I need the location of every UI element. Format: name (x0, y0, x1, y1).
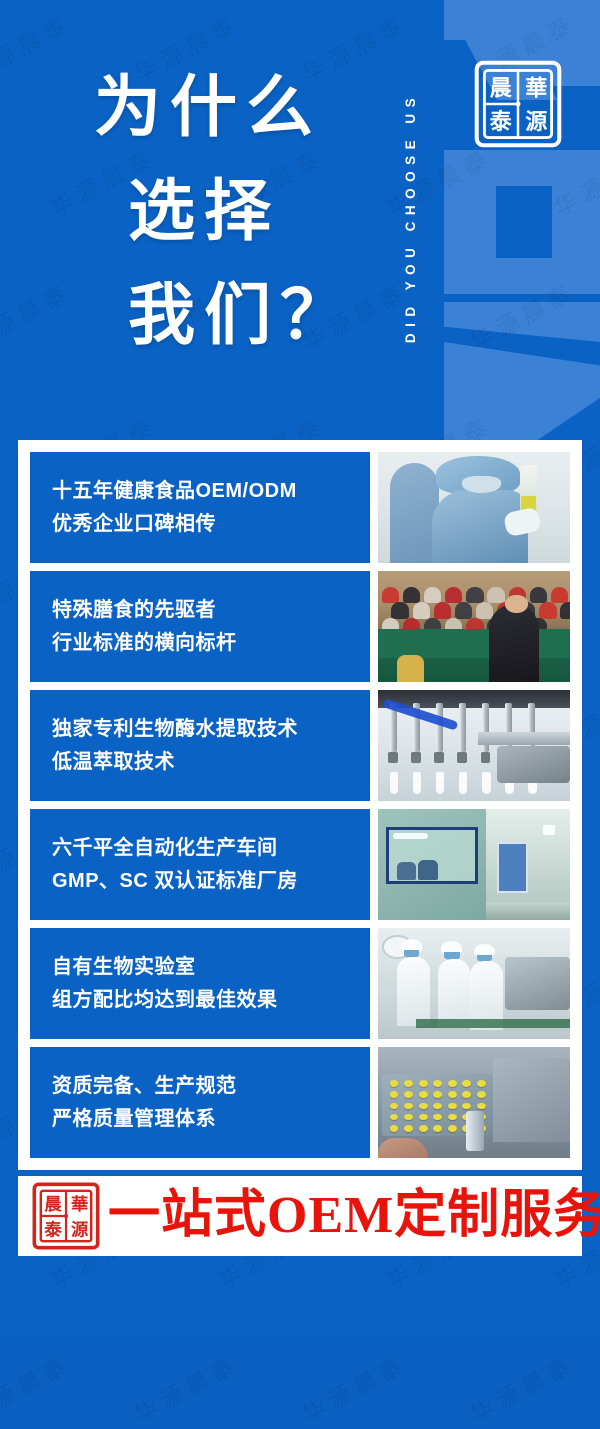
feature-row: 十五年健康食品OEM/ODM优秀企业口碑相传 (30, 452, 570, 563)
svg-text:源: 源 (525, 109, 547, 134)
poster-header: 为什么 选择 我们？ DID YOU CHOOSE US 晨 華 泰 源 (0, 0, 600, 432)
title-line-2: 选择 (94, 160, 394, 264)
feature-text-card: 六千平全自动化生产车间GMP、SC 双认证标准厂房 (30, 809, 370, 920)
feature-line-2: 优秀企业口碑相传 (52, 508, 348, 541)
feature-text-card: 自有生物实验室组方配比均达到最佳效果 (30, 928, 370, 1039)
feature-text-card: 特殊膳食的先驱者行业标准的横向标杆 (30, 571, 370, 682)
conference-audience-photo (378, 571, 570, 682)
title-line-3: 我们？ (94, 264, 394, 368)
feature-line-1: 独家专利生物酶水提取技术 (52, 713, 348, 746)
photo-content (378, 571, 570, 682)
features-panel: 十五年健康食品OEM/ODM优秀企业口碑相传特殊膳食的先驱者行业标准的横向标杆独… (18, 440, 582, 1170)
feature-text-card: 十五年健康食品OEM/ODM优秀企业口碑相传 (30, 452, 370, 563)
feature-line-2: 行业标准的横向标杆 (52, 627, 348, 660)
lab-technician-photo (378, 452, 570, 563)
features-list: 十五年健康食品OEM/ODM优秀企业口碑相传特殊膳食的先驱者行业标准的横向标杆独… (30, 452, 570, 1158)
photo-content (378, 928, 570, 1039)
watermark-text: 华源晨泰 (127, 1345, 245, 1429)
feature-line-1: 自有生物实验室 (52, 951, 348, 984)
svg-text:晨: 晨 (44, 1195, 62, 1214)
title-line-1: 为什么 (94, 56, 394, 160)
feature-line-1: 资质完备、生产规范 (52, 1070, 348, 1103)
feature-line-1: 特殊膳食的先驱者 (52, 594, 348, 627)
blister-packing-photo (378, 1047, 570, 1158)
photo-content (378, 1047, 570, 1158)
watermark-text: 华源晨泰 (463, 1345, 581, 1429)
banner-headline: 一站式OEM定制服务 (108, 1190, 600, 1242)
feature-line-2: 低温萃取技术 (52, 746, 348, 779)
svg-text:泰: 泰 (44, 1219, 62, 1239)
feature-row: 六千平全自动化生产车间GMP、SC 双认证标准厂房 (30, 809, 570, 920)
vertical-caption-text: DID YOU CHOOSE US (404, 91, 419, 342)
feature-row: 独家专利生物酶水提取技术低温萃取技术 (30, 690, 570, 801)
watermark-text: 华源晨泰 (0, 1345, 77, 1429)
watermark-text: 华源晨泰 (295, 1345, 413, 1429)
feature-row: 特殊膳食的先驱者行业标准的横向标杆 (30, 571, 570, 682)
photo-content (378, 690, 570, 801)
svg-text:華: 華 (525, 75, 547, 100)
cleanroom-corridor-photo (378, 809, 570, 920)
feature-row: 资质完备、生产规范严格质量管理体系 (30, 1047, 570, 1158)
feature-row: 自有生物实验室组方配比均达到最佳效果 (30, 928, 570, 1039)
feature-line-2: 组方配比均达到最佳效果 (52, 984, 348, 1017)
feature-text-card: 资质完备、生产规范严格质量管理体系 (30, 1047, 370, 1158)
photo-content (378, 809, 570, 920)
feature-line-1: 十五年健康食品OEM/ODM (52, 475, 348, 508)
filling-line-photo (378, 690, 570, 801)
bottom-banner: 晨 華 泰 源 一站式OEM定制服务 (18, 1176, 582, 1256)
production-staff-photo (378, 928, 570, 1039)
feature-line-2: 严格质量管理体系 (52, 1103, 348, 1136)
photo-content (378, 452, 570, 563)
svg-text:泰: 泰 (489, 109, 513, 134)
banner-seal-icon: 晨 華 泰 源 (30, 1180, 102, 1252)
svg-text:晨: 晨 (490, 75, 513, 100)
page-title: 为什么 选择 我们？ (94, 56, 394, 368)
vertical-caption: DID YOU CHOOSE US (398, 34, 424, 400)
svg-text:華: 華 (71, 1195, 88, 1214)
feature-line-1: 六千平全自动化生产车间 (52, 832, 348, 865)
feature-line-2: GMP、SC 双认证标准厂房 (52, 865, 348, 898)
svg-text:源: 源 (71, 1219, 89, 1239)
feature-text-card: 独家专利生物酶水提取技术低温萃取技术 (30, 690, 370, 801)
brand-seal-icon: 晨 華 泰 源 (470, 56, 566, 152)
